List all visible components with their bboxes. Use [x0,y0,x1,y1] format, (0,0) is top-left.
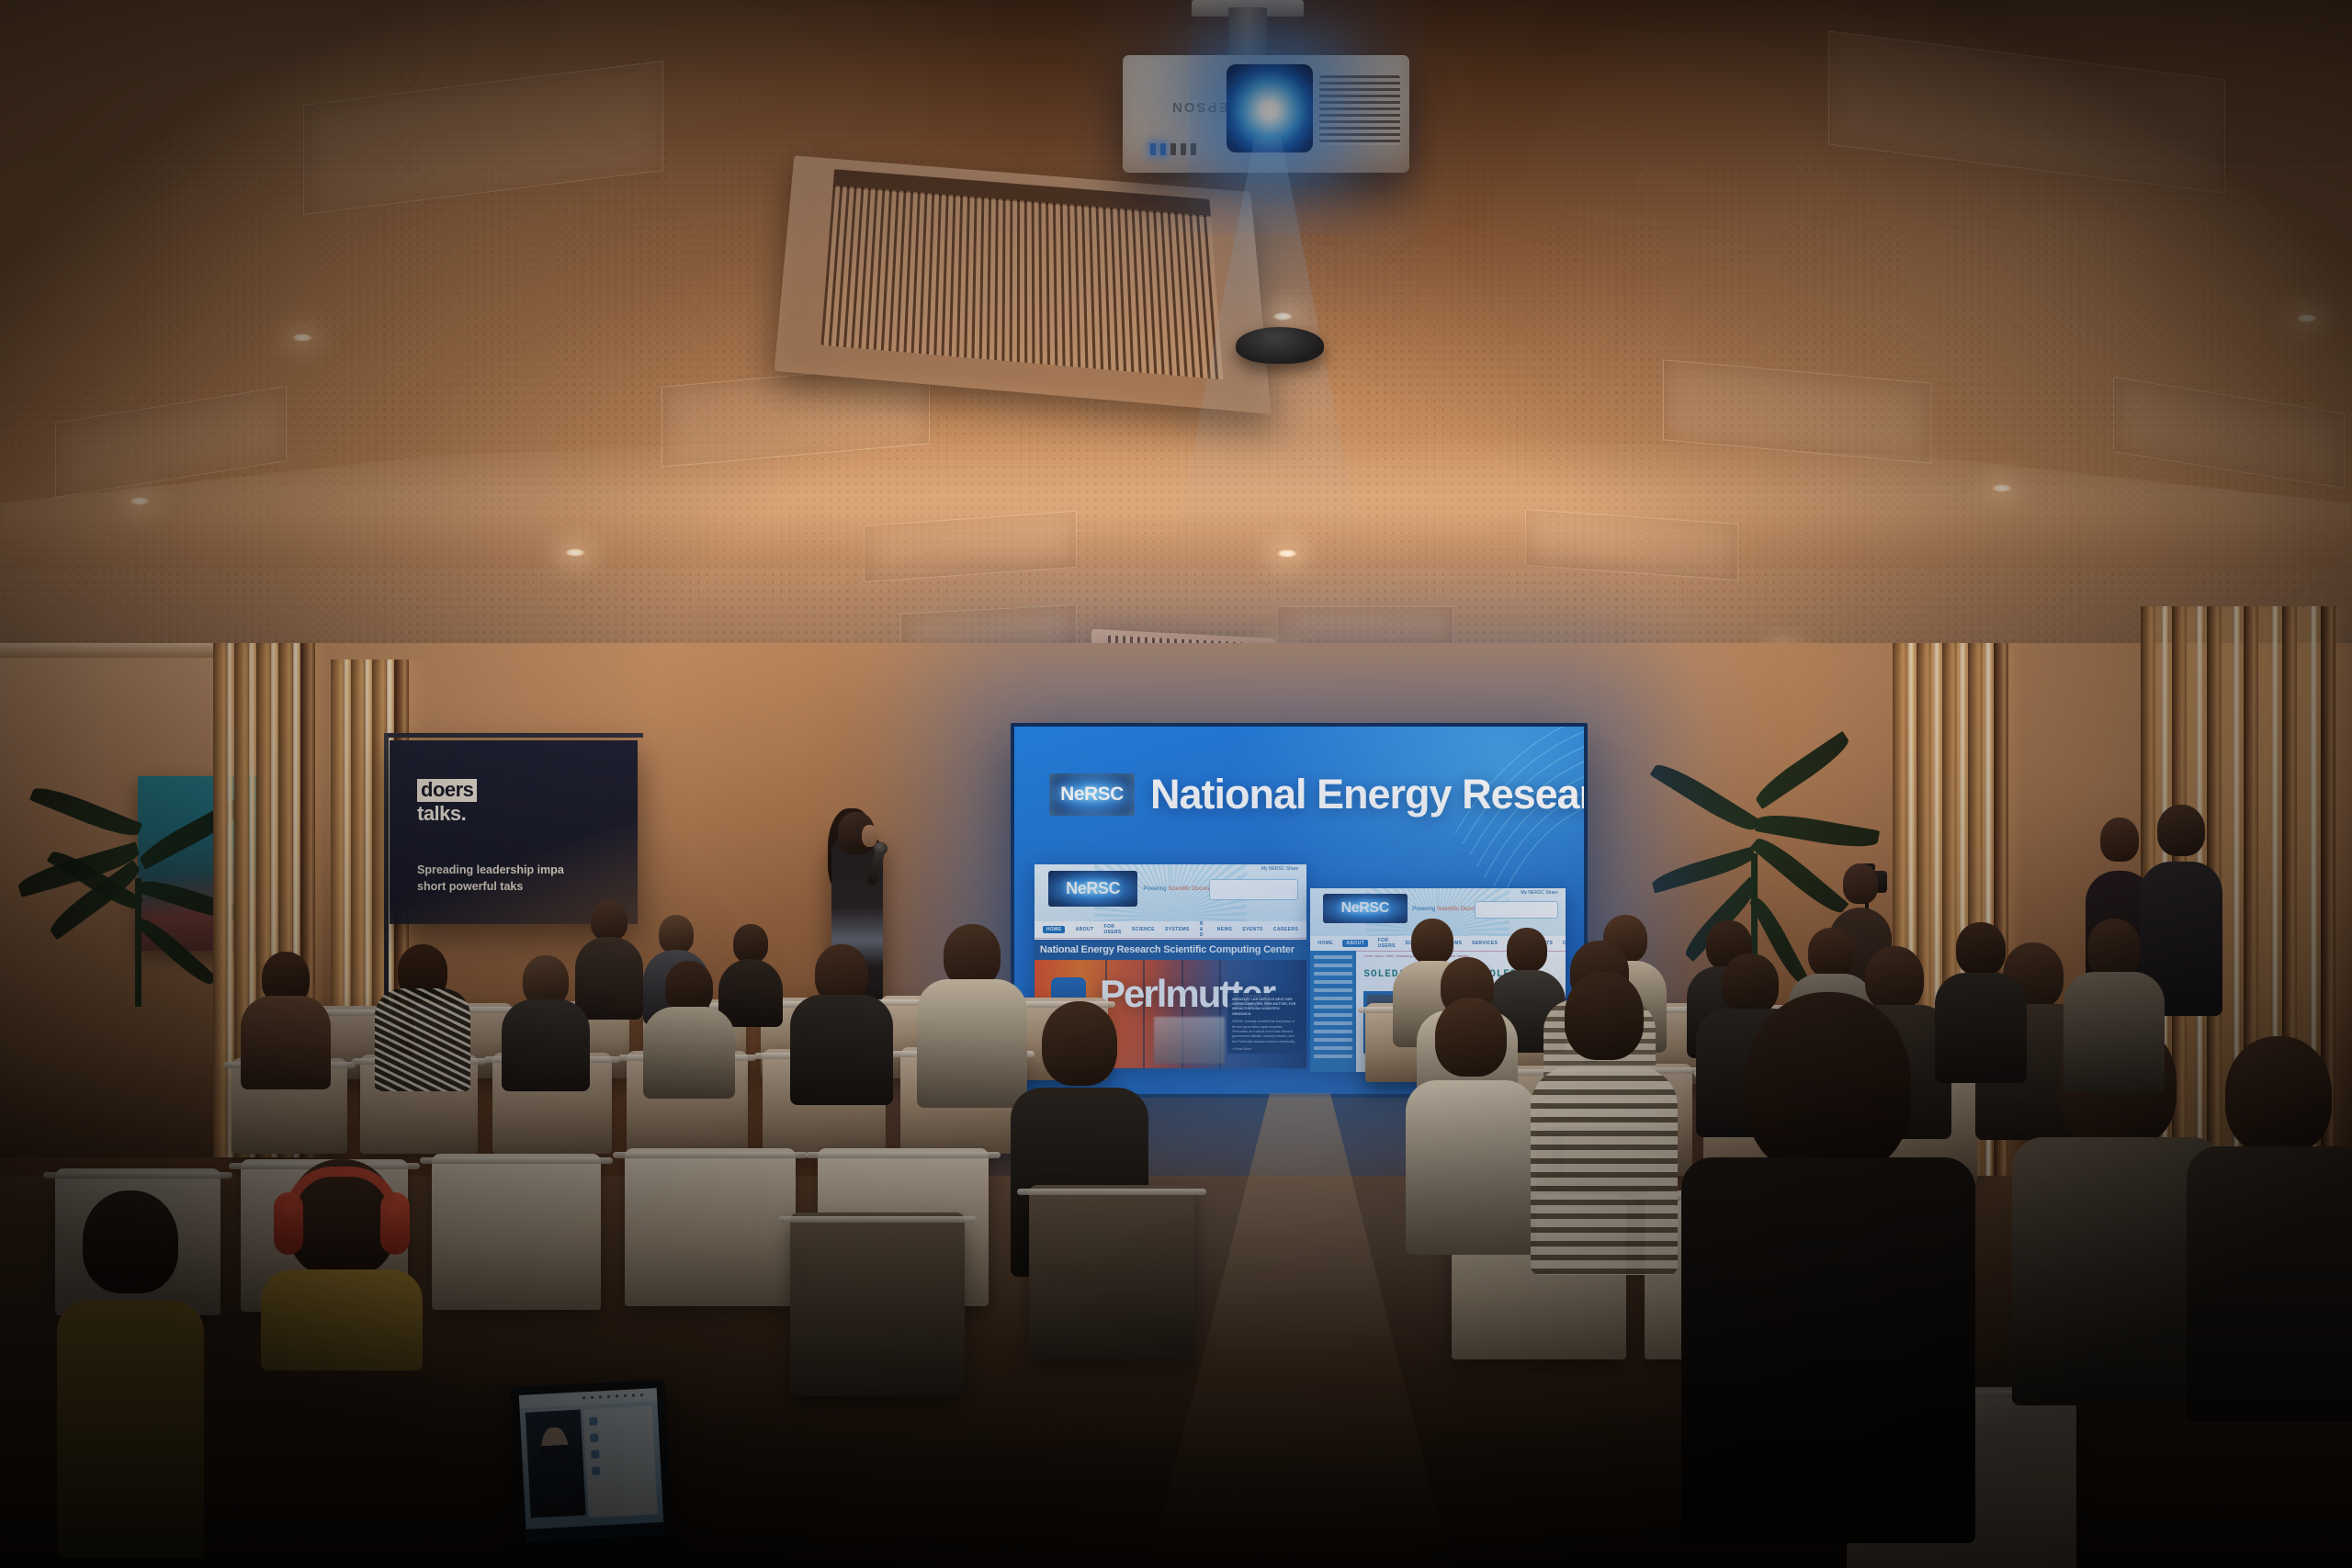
attendee-headphones [259,1159,424,1371]
my-nersc-link[interactable]: My NERSC [1261,866,1285,872]
ceiling-downlight [1992,484,2012,492]
body [261,1269,423,1371]
chair[interactable] [790,1213,965,1396]
body [241,996,331,1089]
body [2064,972,2165,1093]
banner-subtitle: Spreading leadership impa short powerful… [417,862,638,895]
head [2087,919,2141,977]
slide-title: National Energy Research [1150,771,1584,818]
attendee [1935,922,2027,1083]
tagline-prefix: Powering [1412,907,1435,912]
nav-item-rd[interactable]: R & D [1200,921,1207,938]
ceiling-downlight [2297,314,2317,322]
body [643,1007,735,1099]
projector-mount-arm [1228,7,1267,61]
nav-item-about[interactable]: ABOUT [1076,927,1094,932]
attendee [790,944,893,1105]
profile-sidebar[interactable] [1310,951,1356,1072]
laptop-app-toolbar[interactable] [519,1388,658,1408]
nav-item-about[interactable]: ABOUT [1342,940,1368,947]
ceiling-downlight [565,548,585,557]
slide-header: NeRSC National Energy Research [1049,771,1584,818]
nav-item-careers[interactable]: CAREERS [1273,927,1298,932]
attendee-foreground-dark [1681,992,1975,1543]
projector-indicator-leds [1150,143,1196,155]
attendee [643,961,735,1099]
nav-item-science[interactable]: SCIENCE [1132,927,1155,932]
chair[interactable] [625,1148,796,1306]
head [1565,972,1644,1060]
body [1935,973,2027,1083]
attendee-laptop-user [57,1190,204,1558]
banner-rod [384,733,643,738]
chair[interactable] [1029,1185,1194,1359]
ceiling-air-conditioner [775,155,1272,414]
attendee [1531,972,1678,1275]
nav-item-events[interactable]: EVENTS [1242,927,1262,932]
attendee [1406,998,1536,1255]
banner-logo-line2: talks. [417,803,477,826]
attendee [2187,1036,2352,1422]
mini-search-input[interactable] [1209,879,1298,900]
led-light-strip[interactable] [364,660,372,1064]
ceiling-downlight [292,333,312,342]
perlmutter-info-panel: BERKELEY LAB DEPLOYS NEXT-GEN SUPERCOMPU… [1227,993,1301,1054]
attendee-laptop[interactable] [510,1380,673,1555]
head [83,1190,178,1293]
projector-vent [1319,75,1400,145]
body [57,1301,204,1558]
nav-item-home[interactable]: HOME [1043,926,1066,933]
body [375,988,470,1091]
laptop-taskbar[interactable] [526,1522,663,1541]
mini-banner-title: National Energy Research Scientific Comp… [1040,944,1295,955]
laptop-screen [519,1388,664,1541]
mini-search-input[interactable] [1475,901,1558,919]
doers-talks-logo: doers talks. [417,779,477,825]
photographer-head [1843,863,1878,904]
head [659,915,694,953]
body [1681,1157,1975,1543]
head [1956,922,2006,976]
perlmutter-panel-link[interactable]: » Read More [1232,1047,1296,1052]
perlmutter-panel-heading: BERKELEY LAB DEPLOYS NEXT-GEN SUPERCOMPU… [1232,998,1296,1018]
share-link[interactable]: Share [1545,890,1557,896]
body [1406,1080,1536,1255]
nav-item-systems[interactable]: SYSTEMS [1165,927,1190,932]
nav-item-home[interactable]: HOME [1317,941,1333,946]
attendee-patterned-top [375,944,470,1091]
tagline-accent: Scientific Discovery [1168,886,1216,892]
projector-brand-label: EPSON [1170,99,1228,115]
conference-room-photo: EPSON [0,0,2352,1568]
attendee [502,955,590,1091]
body [2187,1146,2352,1422]
left-wall-trim [0,643,220,658]
ceiling-downlight [130,497,150,505]
mini-utility-links[interactable]: My NERSC Share [1521,890,1557,896]
body [502,999,590,1091]
doers-talks-banner: doers talks. Spreading leadership impa s… [390,740,638,924]
mini-nersc-logo: NeRSC [1048,871,1138,907]
mini-browser-header: NeRSC Powering Scientific Discovery Sinc… [1035,864,1306,921]
share-link[interactable]: Share [1286,866,1298,872]
head [944,924,1001,987]
head [2157,805,2205,856]
laptop-media-panel [526,1410,586,1517]
attendee [2064,919,2165,1093]
mini-nav-bar[interactable]: HOME ABOUT FOR USERS SCIENCE SYSTEMS R &… [1035,921,1306,939]
head [2225,1036,2332,1154]
banner-subtitle-line2: short powerful taks [417,878,638,895]
nersc-logo: NeRSC [1049,773,1135,816]
my-nersc-link[interactable]: My NERSC [1521,890,1544,896]
headphone-band [285,1167,399,1214]
tagline-prefix: Powering [1143,886,1166,892]
body [790,995,893,1105]
mini-nersc-logo-text: NeRSC [1066,879,1120,898]
head [1746,992,1911,1176]
banner-logo-line1: doers [417,779,477,802]
ceiling-speaker [1236,327,1324,364]
head [733,924,768,963]
banner-subtitle-line1: Spreading leadership impa [417,862,638,878]
head [1042,1001,1117,1086]
body [1531,1067,1678,1275]
mini-banner-title-bar: National Energy Research Scientific Comp… [1035,940,1306,960]
attendee [241,952,331,1089]
nav-item-for-users[interactable]: FOR USERS [1104,924,1122,935]
mini-utility-links[interactable]: My NERSC Share [1261,866,1298,872]
mini-nersc-logo-text: NeRSC [1341,900,1389,917]
head [2100,818,2139,862]
nav-item-news[interactable]: NEWS [1217,927,1233,932]
led-light-strip[interactable] [343,660,351,1064]
laptop-side-panel [583,1406,658,1517]
perlmutter-people-photo [1154,1017,1225,1065]
ac-grille [820,185,1224,379]
head [1435,998,1507,1077]
nersc-logo-text: NeRSC [1060,784,1124,806]
chair[interactable] [432,1154,601,1310]
head [591,900,628,941]
perlmutter-panel-body: NERSC formally unveiled the first phase … [1232,1020,1296,1044]
